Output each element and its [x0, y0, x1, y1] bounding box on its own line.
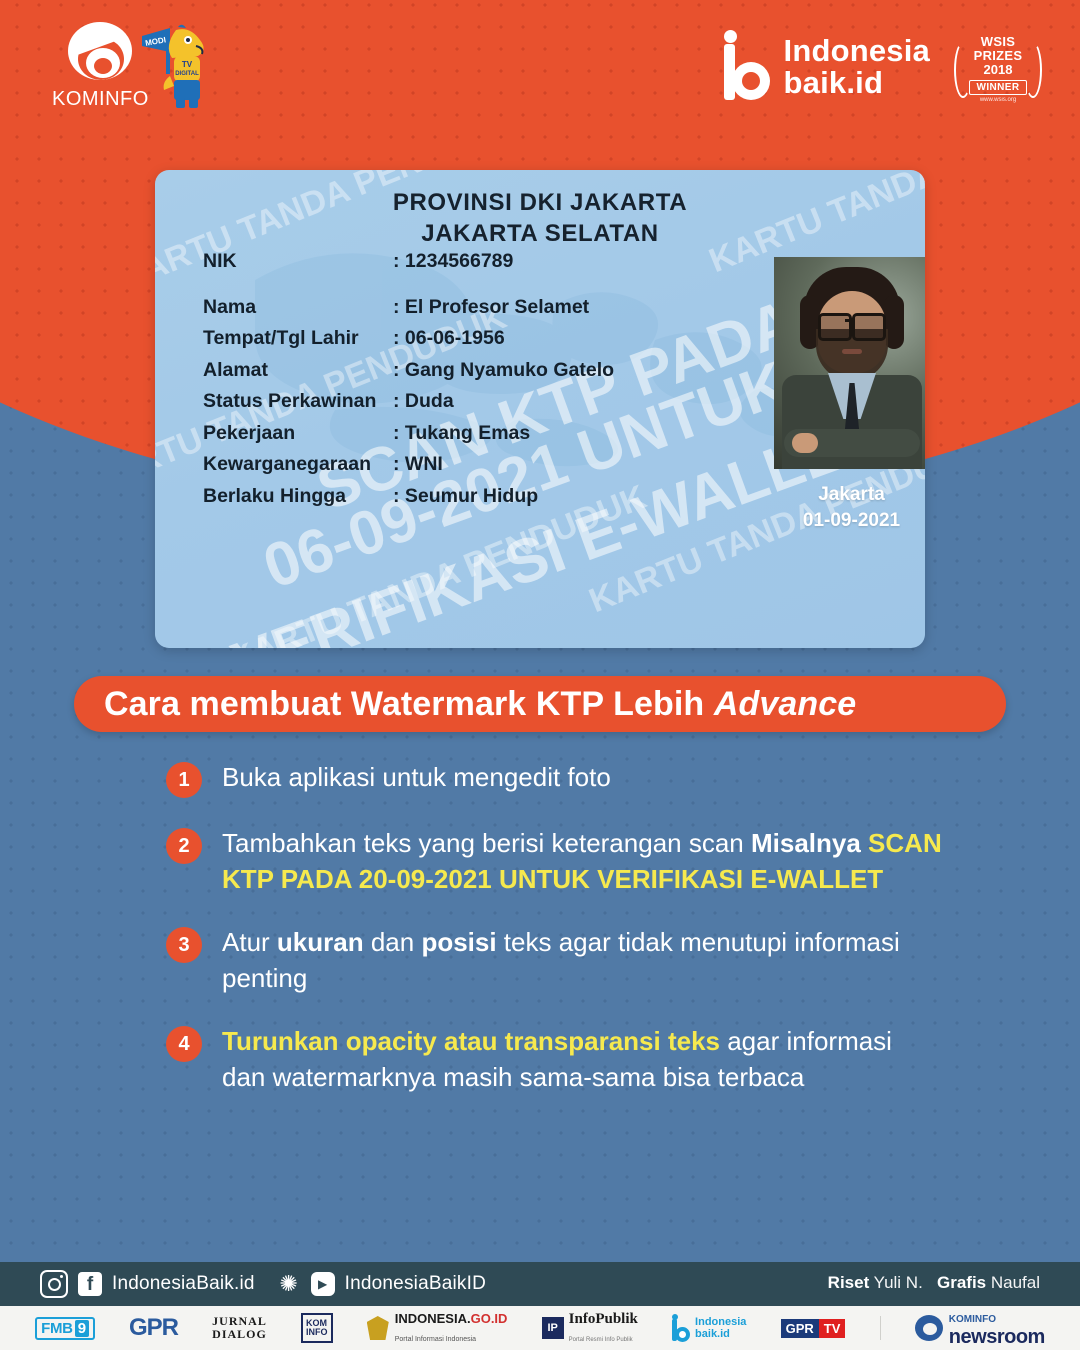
step-text-part: Tambahkan teks yang berisi keterangan sc… — [222, 828, 751, 858]
step-item: 2Tambahkan teks yang berisi keterangan s… — [166, 826, 966, 897]
page-title-italic: Advance — [714, 685, 856, 723]
ktp-field-label: Status Perkawinan — [203, 392, 393, 412]
ktp-field-label: Alamat — [203, 361, 393, 381]
step-text-part: Misalnya — [751, 828, 868, 858]
logo-indonesia-go-id[interactable]: INDONESIA.GO.ID Portal Informasi Indones… — [367, 1311, 508, 1345]
ktp-field-value: : Gang Nyamuko Gatelo — [393, 361, 723, 381]
step-text: Atur ukuran dan posisi teks agar tidak m… — [222, 925, 942, 996]
ktp-field-row: NIK: 1234566789 — [203, 252, 723, 272]
step-number-badge: 4 — [166, 1026, 202, 1062]
steps-list: 1Buka aplikasi untuk mengedit foto2Tamba… — [166, 760, 966, 1124]
step-text: Turunkan opacity atau transparansi teks … — [222, 1024, 942, 1095]
logo-gpr[interactable]: GPR — [129, 1311, 178, 1345]
ktp-field-row: Status Perkawinan: Duda — [203, 392, 723, 412]
ktp-sign-date: 01-09-2021 — [774, 508, 925, 534]
ktp-card: KARTU TANDA PENDUDUK KARTU TANDA PENDUDU… — [155, 170, 925, 648]
infopublik-badge: IP — [542, 1317, 564, 1339]
infopublik-sub: Portal Resmi Info Publik — [569, 1337, 633, 1343]
brand-line-2: baik.id — [784, 67, 931, 99]
ktp-field-label: Tempat/Tgl Lahir — [203, 329, 393, 349]
fmb9-text: FMB — [41, 1320, 73, 1337]
brand-line-1: Indonesia — [784, 35, 931, 67]
ktp-city: JAKARTA SELATAN — [155, 219, 925, 250]
igo-text: INDONESIA. — [395, 1311, 471, 1326]
ktp-signature-block: Jakarta 01-09-2021 — [774, 482, 925, 533]
header: KOMINFO MODI TV DIGITAL — [0, 0, 1080, 150]
ib-small-line-2: baik.id — [695, 1328, 730, 1340]
logo-jurnal-dialog[interactable]: JURNAL DIALOG — [212, 1311, 267, 1345]
newsroom-swirl-icon — [915, 1315, 943, 1341]
svg-text:DIGITAL: DIGITAL — [175, 71, 199, 77]
igo-accent: GO.ID — [471, 1311, 508, 1326]
step-text-part: posisi — [421, 927, 496, 957]
ktp-photo — [774, 257, 925, 469]
credit-grafis-label: Grafis — [937, 1273, 986, 1292]
step-text-part: dan — [364, 927, 422, 957]
step-item: 1Buka aplikasi untuk mengedit foto — [166, 760, 966, 798]
ktp-field-label: Kewarganegaraan — [203, 455, 393, 475]
gprtv-a: GPR — [781, 1319, 819, 1338]
credits: Riset Yuli N. Grafis Naufal — [828, 1273, 1040, 1293]
ktp-field-label: Pekerjaan — [203, 424, 393, 444]
social-handle-2: IndonesiaBaikID — [345, 1273, 486, 1295]
ktp-field-row: Nama: El Profesor Selamet — [203, 298, 723, 318]
gpr-text: GPR — [129, 1314, 178, 1342]
ktp-field-row: Tempat/Tgl Lahir: 06-06-1956 — [203, 329, 723, 349]
ktp-sign-city: Jakarta — [774, 482, 925, 508]
step-number-badge: 2 — [166, 828, 202, 864]
ktp-field-row: Pekerjaan: Tukang Emas — [203, 424, 723, 444]
modi-mascot-icon: MODI TV DIGITAL — [140, 24, 214, 112]
indonesiabaik-wordmark: Indonesia baik.id — [784, 35, 931, 99]
ktp-field-list: NIK: 1234566789Nama: El Profesor Selamet… — [203, 252, 723, 518]
ktp-field-label: NIK — [203, 252, 393, 272]
infopublik-text: InfoPublik — [569, 1311, 638, 1327]
youtube-icon[interactable]: ▶ — [311, 1272, 335, 1296]
step-text: Buka aplikasi untuk mengedit foto — [222, 760, 611, 796]
kominfo-logo: KOMINFO — [52, 22, 148, 110]
kominfo-wordmark: KOMINFO — [52, 88, 148, 111]
svg-text:TV: TV — [182, 60, 193, 69]
page-title-main: Cara membuat Watermark KTP Lebih — [104, 685, 714, 723]
ktp-field-value: : 1234566789 — [393, 252, 723, 272]
ib-small-line-1: Indonesia — [695, 1316, 746, 1328]
newsroom-line-1: KOMINFO — [949, 1314, 996, 1325]
ktp-field-value: : Seumur Hidup — [393, 487, 723, 507]
logo-fmb9[interactable]: FMB9 — [35, 1311, 95, 1345]
step-text-part: Atur — [222, 927, 277, 957]
jurnal-line-2: DIALOG — [212, 1327, 267, 1341]
social-handle-1: IndonesiaBaik.id — [112, 1273, 255, 1295]
partner-logo-bar: FMB9 GPR JURNAL DIALOG KOM INFO INDONESI… — [0, 1306, 1080, 1350]
wsis-line-2: PRIZES — [974, 49, 1023, 62]
logo-indonesiabaik-small[interactable]: Indonesia baik.id — [672, 1311, 746, 1345]
gprtv-b: TV — [819, 1319, 846, 1338]
wsis-ribbon: WINNER — [969, 80, 1028, 95]
ktp-province: PROVINSI DKI JAKARTA — [155, 188, 925, 219]
ktp-field-value: : Tukang Emas — [393, 424, 723, 444]
logo-kominfo-square[interactable]: KOM INFO — [301, 1311, 333, 1345]
facebook-icon[interactable]: f — [78, 1272, 102, 1296]
ktp-field-label: Berlaku Hingga — [203, 487, 393, 507]
kominfo-mark-icon — [62, 22, 138, 84]
step-text-part: Buka aplikasi untuk mengedit foto — [222, 762, 611, 792]
kominfo-sq-line-2: INFO — [306, 1327, 328, 1337]
twitter-icon[interactable]: ✺ — [277, 1272, 301, 1296]
ktp-field-value: : 06-06-1956 — [393, 329, 723, 349]
wsis-year: 2018 — [984, 62, 1013, 77]
credit-grafis-name: Naufal — [991, 1273, 1040, 1292]
newsroom-line-2: newsroom — [949, 1326, 1045, 1348]
credit-riset-label: Riset — [828, 1273, 870, 1292]
wsis-prizes-2018-badge: WSIS PRIZES 2018 WINNER www.wsis.org — [952, 30, 1044, 108]
social-links: f IndonesiaBaik.id ✺ ▶ IndonesiaBaikID — [40, 1270, 498, 1298]
title-banner: Cara membuat Watermark KTP Lebih Advance — [74, 676, 1006, 732]
step-text: Tambahkan teks yang berisi keterangan sc… — [222, 826, 942, 897]
logo-infopublik[interactable]: IP InfoPublik Portal Resmi Info Publik — [542, 1311, 638, 1345]
infographic-canvas: KOMINFO MODI TV DIGITAL — [0, 0, 1080, 1350]
ktp-field-value: : WNI — [393, 455, 723, 475]
ktp-field-label: Nama — [203, 298, 393, 318]
credit-riset-name: Yuli N. — [874, 1273, 923, 1292]
step-item: 3Atur ukuran dan posisi teks agar tidak … — [166, 925, 966, 996]
ktp-header: PROVINSI DKI JAKARTA JAKARTA SELATAN — [155, 188, 925, 249]
ktp-field-row: Kewarganegaraan: WNI — [203, 455, 723, 475]
igo-sub: Portal Informasi Indonesia — [395, 1336, 476, 1343]
wsis-line-1: WSIS — [981, 35, 1015, 48]
ktp-field-row: Alamat: Gang Nyamuko Gatelo — [203, 361, 723, 381]
indonesiabaik-logo: Indonesia baik.id — [724, 34, 931, 100]
indonesiabaik-b-icon — [724, 34, 770, 100]
step-text-part: Turunkan opacity atau transparansi teks — [222, 1026, 720, 1056]
page-title: Cara membuat Watermark KTP Lebih Advance — [74, 685, 856, 724]
fmb9-accent: 9 — [75, 1320, 89, 1337]
logo-kominfo-newsroom[interactable]: KOMINFO newsroom — [915, 1311, 1045, 1345]
ktp-field-row: Berlaku Hingga: Seumur Hidup — [203, 487, 723, 507]
logo-gpr-tv[interactable]: GPR TV — [781, 1311, 846, 1345]
step-number-badge: 3 — [166, 927, 202, 963]
step-item: 4Turunkan opacity atau transparansi teks… — [166, 1024, 966, 1095]
wsis-url: www.wsis.org — [980, 97, 1016, 103]
instagram-icon[interactable] — [40, 1270, 68, 1298]
ktp-field-value: : El Profesor Selamet — [393, 298, 723, 318]
indonesiabaik-small-b-icon — [672, 1315, 690, 1341]
logo-divider — [880, 1316, 881, 1340]
step-number-badge: 1 — [166, 762, 202, 798]
garuda-icon — [367, 1316, 389, 1340]
step-text-part: ukuran — [277, 927, 364, 957]
ktp-field-value: : Duda — [393, 392, 723, 412]
